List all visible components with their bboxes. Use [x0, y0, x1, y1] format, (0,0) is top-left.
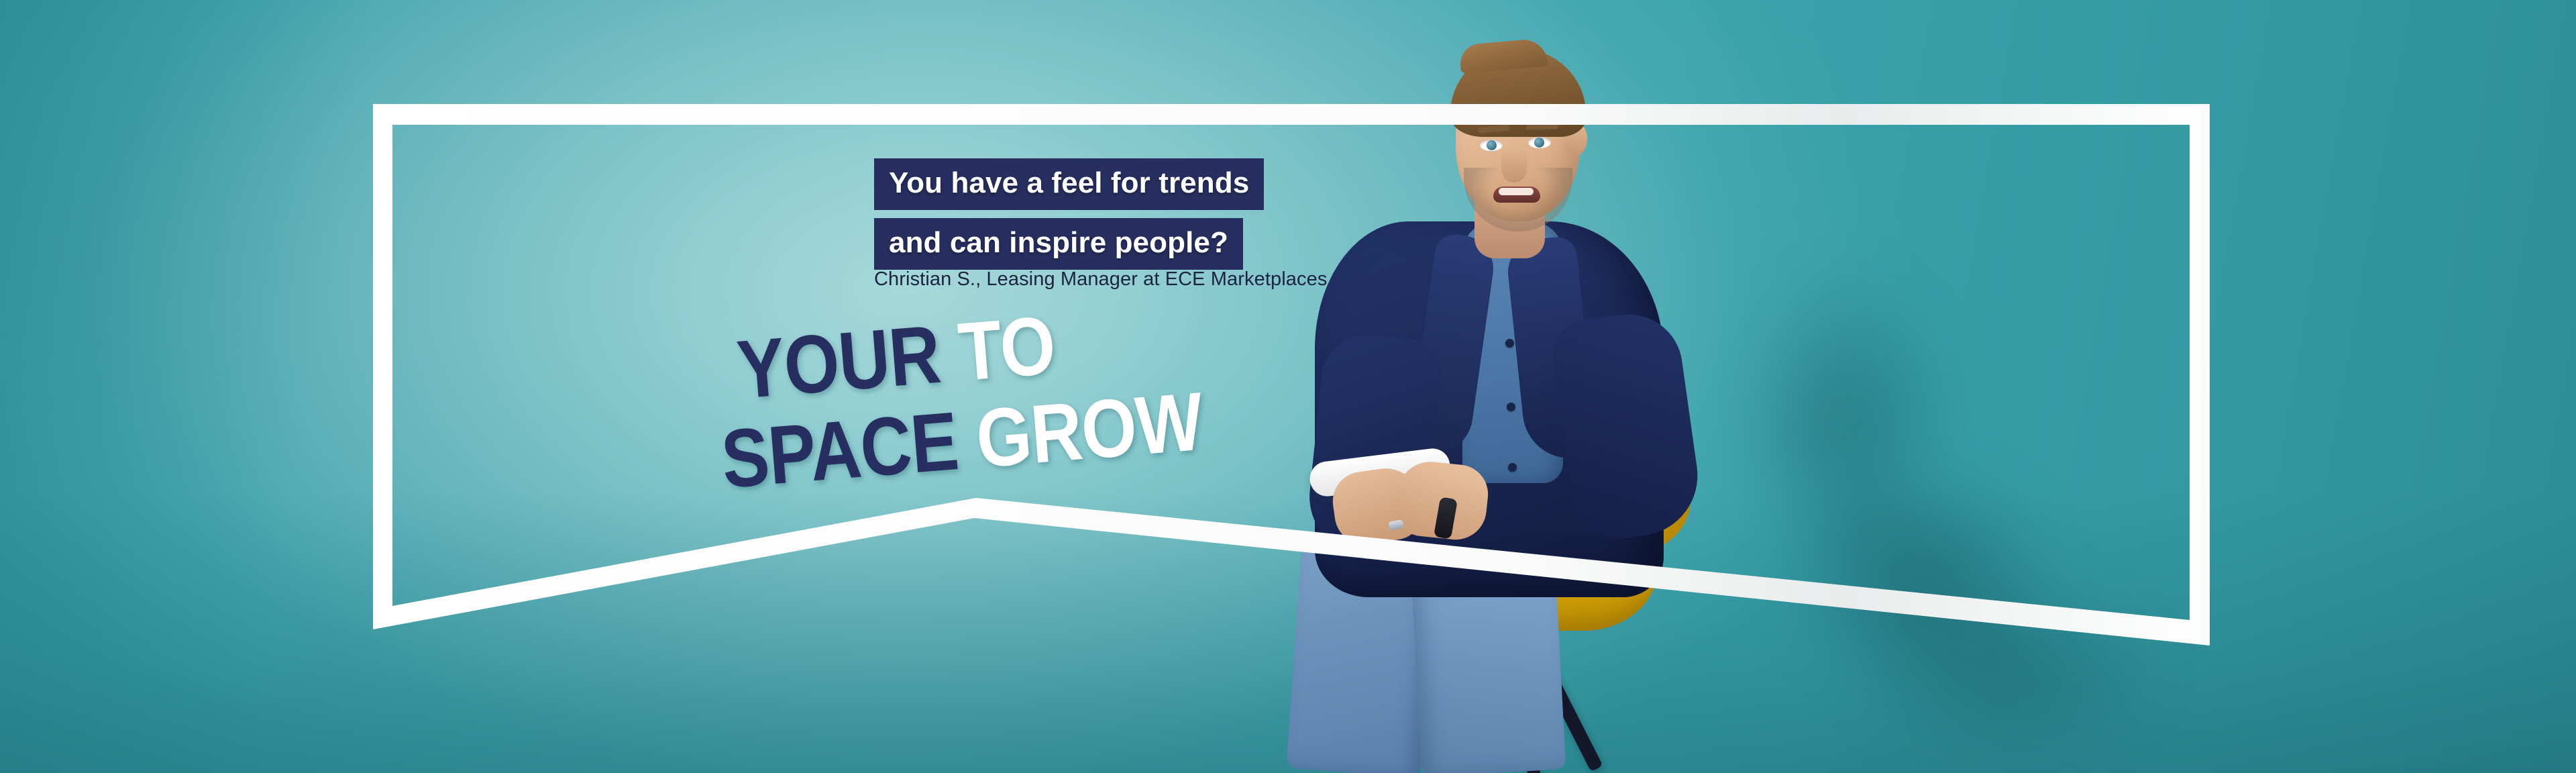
eyebrow-right	[1526, 123, 1558, 130]
shirt-button	[1508, 463, 1517, 472]
background-floor-shading	[0, 491, 2576, 773]
iris-right	[1534, 138, 1544, 148]
teeth	[1499, 188, 1534, 195]
quote-badge-line-2: and can inspire people?	[874, 218, 1243, 270]
hero-banner: YOUR TO SPACE GROW You have a feel for t…	[0, 0, 2576, 773]
headline-word-to: TO	[955, 299, 1059, 399]
shirt-button	[1505, 339, 1514, 348]
quote-line-2-row: and can inspire people?	[874, 218, 1264, 270]
headline: YOUR TO SPACE GROW	[735, 289, 1283, 498]
quote-block: You have a feel for trends and can inspi…	[874, 158, 1264, 278]
headline-word-space: SPACE	[718, 395, 961, 506]
headline-word-grow: GROW	[973, 376, 1205, 486]
shirt-button	[1507, 403, 1515, 411]
quote-badge-line-1: You have a feel for trends	[874, 158, 1264, 210]
attribution-caption: Christian S., Leasing Manager at ECE Mar…	[874, 268, 1327, 291]
subject-photo	[1295, 0, 2006, 773]
iris-left	[1487, 140, 1497, 150]
nose	[1501, 149, 1527, 183]
quote-line-1-row: You have a feel for trends	[874, 158, 1264, 210]
